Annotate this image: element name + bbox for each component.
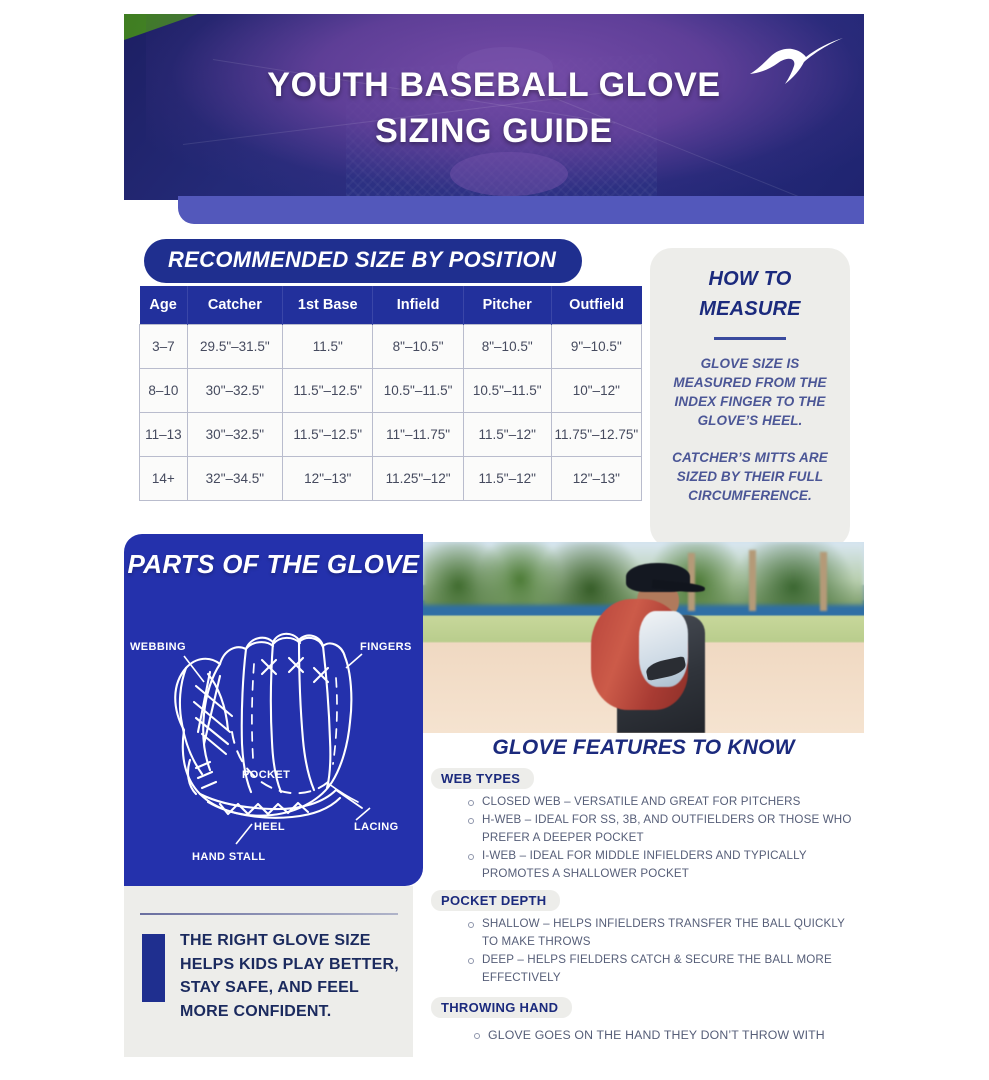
cell-catcher: 30"–32.5" — [187, 413, 282, 457]
column-header-pitcher: Pitcher — [463, 286, 551, 325]
cell-1st-base: 11.5"–12.5" — [283, 413, 373, 457]
glove-features-heading: GLOVE FEATURES TO KNOW — [423, 736, 864, 760]
header-accent-bar — [178, 196, 864, 224]
cell-catcher: 32"–34.5" — [187, 457, 282, 501]
size-by-position-table: Age Catcher 1st Base Infield Pitcher Out… — [139, 286, 642, 501]
column-header-1st-base: 1st Base — [283, 286, 373, 325]
cell-age: 11–13 — [140, 413, 188, 457]
label-webbing: WEBBING — [130, 641, 186, 653]
callout-divider — [140, 913, 398, 915]
feature-group-web-types: WEB TYPES — [431, 768, 864, 789]
category-label-web-types: WEB TYPES — [431, 768, 534, 789]
how-to-measure-paragraph-2: CATCHER’S MITTS ARE SIZED BY THEIR FULL … — [664, 448, 836, 505]
callout-accent-bar — [142, 934, 165, 1002]
header-banner: YOUTH BASEBALL GLOVE SIZING GUIDE — [124, 14, 864, 200]
category-label-pocket-depth: POCKET DEPTH — [431, 890, 560, 911]
cell-1st-base: 11.5"–12.5" — [283, 369, 373, 413]
size-table-wrapper: Age Catcher 1st Base Infield Pitcher Out… — [139, 286, 642, 501]
feature-list-throwing-hand: GLOVE GOES ON THE HAND THEY DON’T THROW … — [473, 1026, 864, 1045]
cell-pitcher: 10.5"–11.5" — [463, 369, 551, 413]
infographic-page: YOUTH BASEBALL GLOVE SIZING GUIDE RECOMM… — [0, 0, 989, 1080]
cell-infield: 11"–11.75" — [373, 413, 463, 457]
cell-age: 3–7 — [140, 325, 188, 369]
glove-diagram: WEBBING FINGERS POCKET HEEL LACING HAND … — [124, 612, 423, 884]
label-fingers: FINGERS — [360, 641, 412, 653]
how-to-measure-paragraph-1: GLOVE SIZE IS MEASURED FROM THE INDEX FI… — [664, 354, 836, 431]
glove-features-section: GLOVE FEATURES TO KNOW WEB TYPES CLOSED … — [423, 736, 864, 1045]
cell-outfield: 12"–13" — [551, 457, 641, 501]
callout-text: THE RIGHT GLOVE SIZE HELPS KIDS PLAY BET… — [180, 929, 404, 1023]
cell-pitcher: 8"–10.5" — [463, 325, 551, 369]
mizuno-runbird-icon — [742, 32, 846, 88]
table-row: 14+ 32"–34.5" 12"–13" 11.25"–12" 11.5"–1… — [140, 457, 642, 501]
table-row: 3–7 29.5"–31.5" 11.5" 8"–10.5" 8"–10.5" … — [140, 325, 642, 369]
cell-outfield: 9"–10.5" — [551, 325, 641, 369]
divider-rule — [714, 337, 786, 340]
parts-of-glove-panel: PARTS OF THE GLOVE — [124, 534, 423, 886]
cell-infield: 10.5"–11.5" — [373, 369, 463, 413]
cell-catcher: 30"–32.5" — [187, 369, 282, 413]
table-row: 11–13 30"–32.5" 11.5"–12.5" 11"–11.75" 1… — [140, 413, 642, 457]
list-item: H-WEB – IDEAL FOR SS, 3B, AND OUTFIELDER… — [467, 811, 864, 847]
parts-of-glove-heading: PARTS OF THE GLOVE — [124, 550, 423, 580]
leader-line-fingers — [346, 654, 362, 668]
table-header-row: Age Catcher 1st Base Infield Pitcher Out… — [140, 286, 642, 325]
list-item: GLOVE GOES ON THE HAND THEY DON’T THROW … — [473, 1026, 864, 1045]
list-item: CLOSED WEB – VERSATILE AND GREAT FOR PIT… — [467, 793, 864, 811]
key-takeaway-callout: THE RIGHT GLOVE SIZE HELPS KIDS PLAY BET… — [124, 886, 413, 1057]
cell-pitcher: 11.5"–12" — [463, 413, 551, 457]
label-heel: HEEL — [254, 821, 285, 833]
feature-list-web-types: CLOSED WEB – VERSATILE AND GREAT FOR PIT… — [467, 793, 864, 883]
column-header-age: Age — [140, 286, 188, 325]
column-header-infield: Infield — [373, 286, 463, 325]
fence-pole — [749, 550, 756, 611]
home-plate-circle-shape — [450, 152, 568, 197]
feature-list-pocket-depth: SHALLOW – HELPS INFIELDERS TRANSFER THE … — [467, 915, 864, 987]
list-item: I-WEB – IDEAL FOR MIDDLE INFIELDERS AND … — [467, 847, 864, 883]
cell-pitcher: 11.5"–12" — [463, 457, 551, 501]
feature-group-throwing-hand: THROWING HAND — [431, 997, 864, 1018]
catcher-photo — [423, 542, 864, 733]
label-lacing: LACING — [354, 821, 399, 833]
label-hand-stall: HAND STALL — [192, 851, 265, 863]
how-to-measure-panel: HOW TO MEASURE GLOVE SIZE IS MEASURED FR… — [650, 248, 850, 548]
cell-outfield: 11.75"–12.75" — [551, 413, 641, 457]
table-row: 8–10 30"–32.5" 11.5"–12.5" 10.5"–11.5" 1… — [140, 369, 642, 413]
cell-1st-base: 11.5" — [283, 325, 373, 369]
recommended-size-pill: RECOMMENDED SIZE BY POSITION — [144, 239, 582, 283]
leader-line-lacing — [356, 808, 370, 820]
cell-age: 8–10 — [140, 369, 188, 413]
fence-pole — [820, 552, 827, 611]
column-header-catcher: Catcher — [187, 286, 282, 325]
cell-infield: 8"–10.5" — [373, 325, 463, 369]
cell-infield: 11.25"–12" — [373, 457, 463, 501]
how-to-measure-heading: HOW TO MEASURE — [664, 264, 836, 324]
list-item: DEEP – HELPS FIELDERS CATCH & SECURE THE… — [467, 951, 864, 987]
cell-age: 14+ — [140, 457, 188, 501]
category-label-throwing-hand: THROWING HAND — [431, 997, 572, 1018]
leader-line-hand-stall — [236, 824, 252, 844]
feature-group-pocket-depth: POCKET DEPTH — [431, 890, 864, 911]
title-line-2: SIZING GUIDE — [124, 108, 864, 154]
cell-catcher: 29.5"–31.5" — [187, 325, 282, 369]
label-pocket: POCKET — [242, 769, 290, 781]
cell-1st-base: 12"–13" — [283, 457, 373, 501]
list-item: SHALLOW – HELPS INFIELDERS TRANSFER THE … — [467, 915, 864, 951]
cell-outfield: 10"–12" — [551, 369, 641, 413]
column-header-outfield: Outfield — [551, 286, 641, 325]
